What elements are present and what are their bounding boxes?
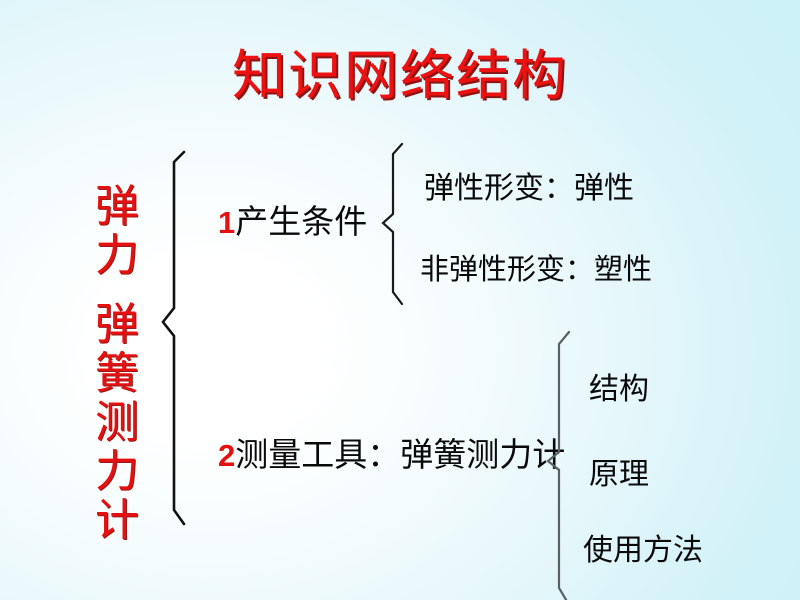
root-label: 弹力 弹簧测力计 (86, 182, 148, 545)
branch-1-number: 1 (218, 205, 235, 240)
branch-1-text: 产生条件 (235, 205, 367, 241)
branch-2-text: 测量工具：弹簧测力计 (235, 438, 565, 474)
branch-1-child-2: 非弹性形变：塑性 (420, 252, 652, 286)
branch-1-child-1: 弹性形变：弹性 (424, 172, 634, 206)
root-label-line2: 弹簧测力计 (95, 300, 139, 545)
branch-1-label: 1产生条件 (218, 205, 367, 241)
root-label-spacer (86, 280, 148, 300)
branch-2-child-2: 原理 (589, 458, 649, 492)
tool-brace-icon (545, 330, 573, 600)
branch-2-label: 2测量工具：弹簧测力计 (218, 438, 565, 474)
page-title: 知识网络结构 (0, 46, 800, 106)
branch-2-number: 2 (218, 438, 235, 473)
branch-2-child-3: 使用方法 (583, 534, 703, 568)
branch-2-child-1: 结构 (589, 373, 649, 407)
slide-canvas: 知识网络结构 弹力 弹簧测力计 1产生条件 弹性形变：弹性 非弹性形变：塑性 2… (0, 0, 800, 600)
root-label-line1: 弹力 (95, 182, 139, 280)
main-brace-icon (160, 150, 190, 535)
conditions-brace-icon (380, 142, 406, 312)
